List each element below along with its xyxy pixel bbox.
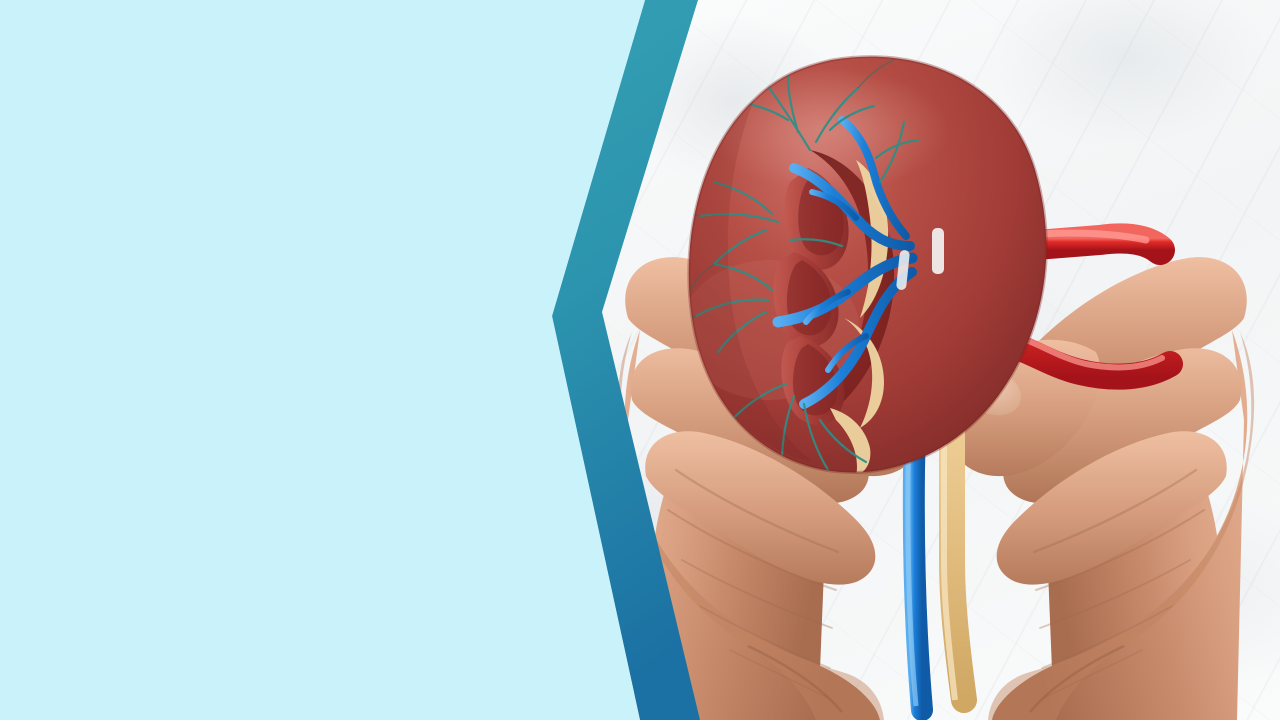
title-divider <box>48 339 503 343</box>
headline-line-1: KIDNEY <box>48 207 225 259</box>
hero-photo-panel <box>580 0 1280 720</box>
kidney-transplant-banner: KIDNEY TRANSPLANT How Modern Advances Ar… <box>0 0 1280 720</box>
kidney-in-hands-illustration <box>580 0 1280 720</box>
headline-line-2: TRANSPLANT <box>48 261 518 317</box>
subtitle: How Modern Advances Are Transforming Out… <box>48 367 508 484</box>
page-title: KIDNEY TRANSPLANT <box>48 205 518 317</box>
headline-block: KIDNEY TRANSPLANT How Modern Advances Ar… <box>48 205 518 511</box>
